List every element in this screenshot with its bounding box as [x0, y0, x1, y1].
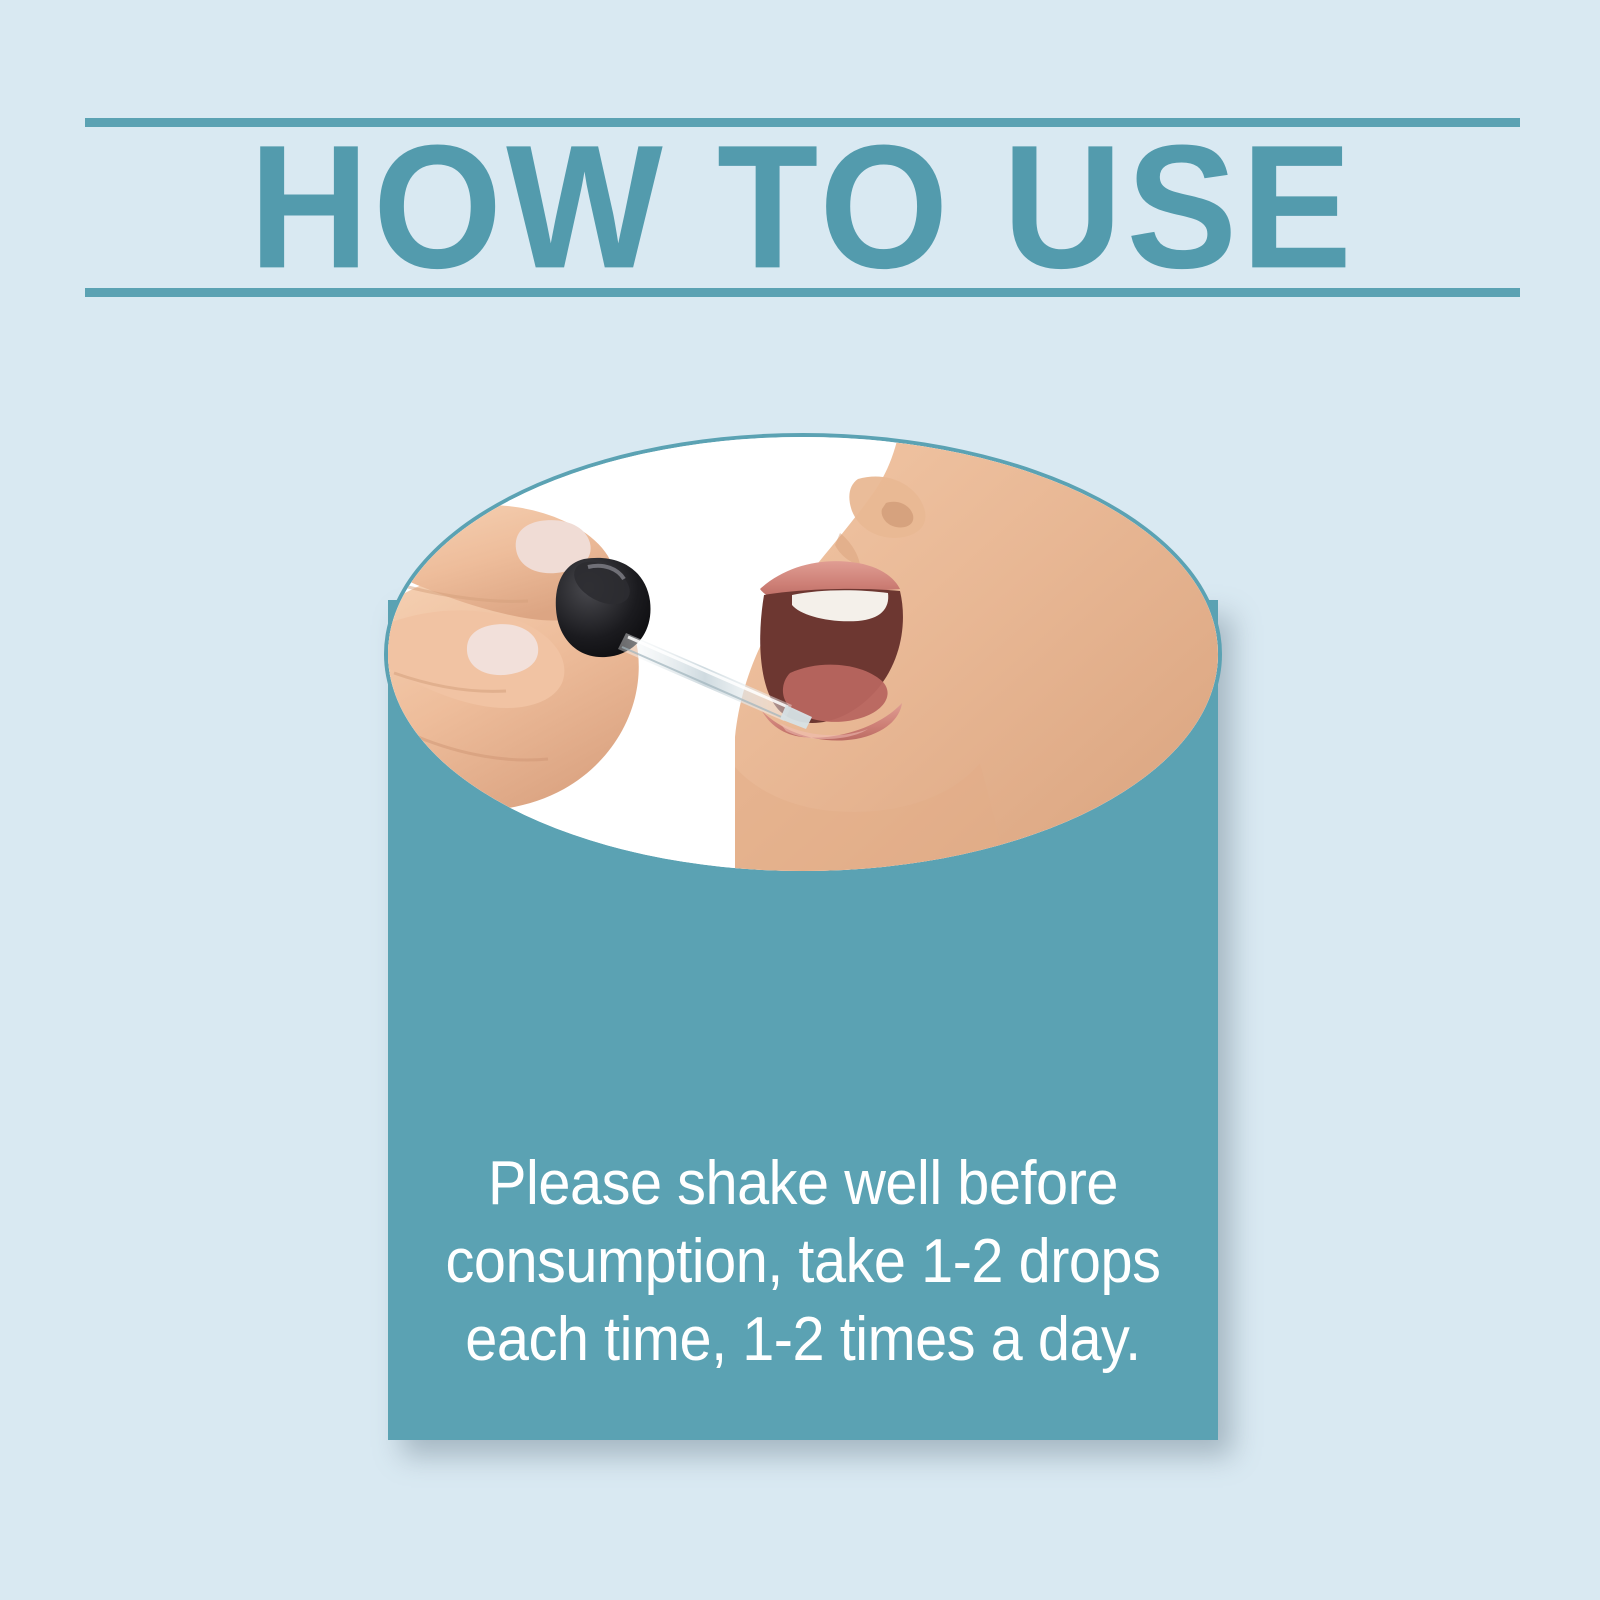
instruction-text: Please shake well before consumption, ta… [445, 1145, 1161, 1379]
usage-photo [388, 437, 1218, 871]
divider-bottom [85, 288, 1520, 297]
instruction-card: Please shake well before consumption, ta… [388, 437, 1218, 1440]
page-title: HOW TO USE [85, 113, 1520, 303]
how-to-use-panel: HOW TO USE Please shake well before cons… [0, 0, 1600, 1600]
header: HOW TO USE [85, 110, 1520, 305]
